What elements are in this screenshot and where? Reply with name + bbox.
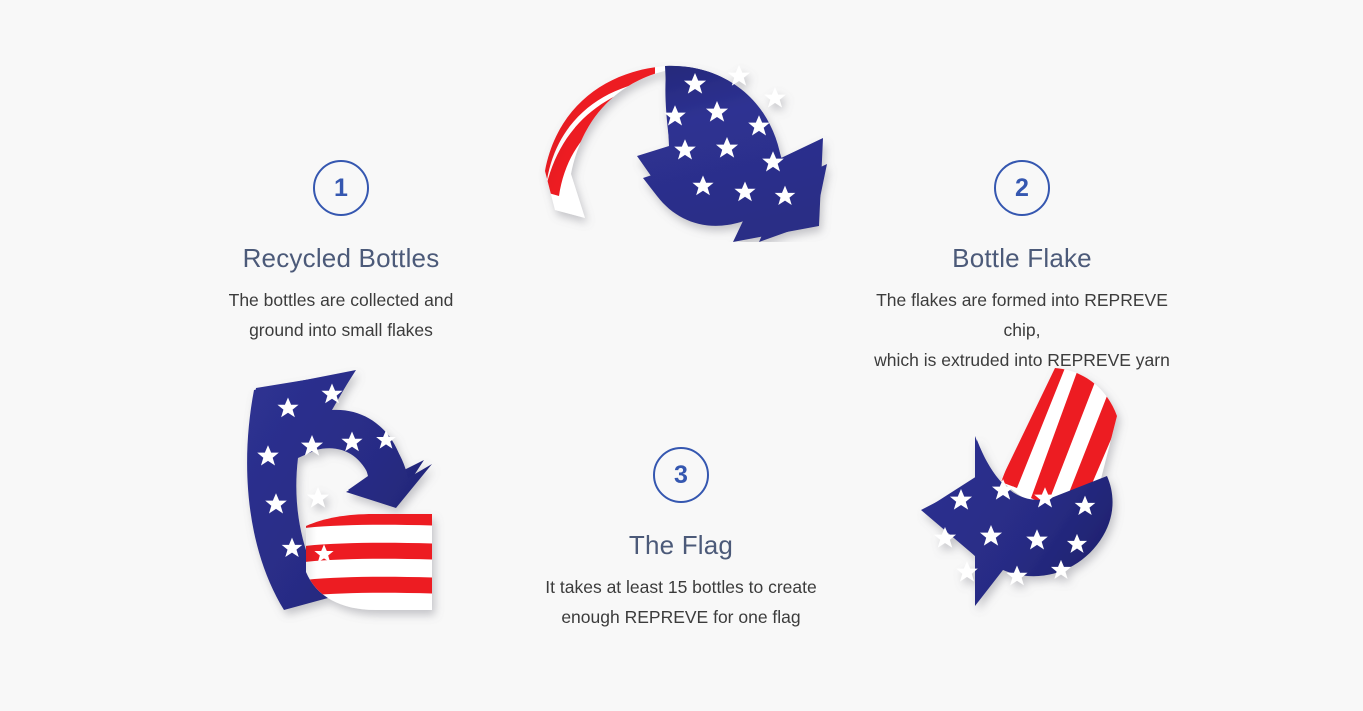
step-1-number: 1 <box>334 176 348 201</box>
american-flag-arrow-up-left-icon <box>228 358 464 638</box>
step-1-description: The bottles are collected and ground int… <box>180 285 502 345</box>
american-flag-arrow-left-icon <box>905 358 1145 638</box>
step-2-number-badge: 2 <box>994 160 1050 216</box>
step-2-block: 2 Bottle Flake The flakes are formed int… <box>861 160 1183 375</box>
step-2-description: The flakes are formed into REPREVE chip,… <box>861 285 1183 375</box>
step-3-number-badge: 3 <box>653 447 709 503</box>
step-3-title: The Flag <box>520 531 842 560</box>
step-2-title: Bottle Flake <box>861 244 1183 273</box>
american-flag-arrow-down-right-icon <box>527 46 847 242</box>
step-3-number: 3 <box>674 463 688 488</box>
step-1-block: 1 Recycled Bottles The bottles are colle… <box>180 160 502 345</box>
step-3-block: 3 The Flag It takes at least 15 bottles … <box>520 447 842 632</box>
step-1-number-badge: 1 <box>313 160 369 216</box>
infographic-canvas: 1 Recycled Bottles The bottles are colle… <box>0 0 1363 711</box>
step-1-title: Recycled Bottles <box>180 244 502 273</box>
step-3-description: It takes at least 15 bottles to create e… <box>520 572 842 632</box>
step-2-number: 2 <box>1015 176 1029 201</box>
